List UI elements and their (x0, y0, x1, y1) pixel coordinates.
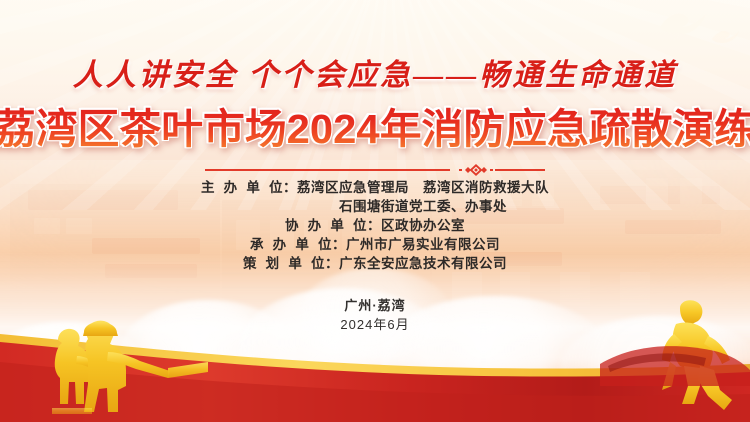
organizer-value: 石围塘街道党工委、办事处 (339, 197, 507, 216)
organizer-label: 承办单位 (250, 235, 332, 254)
divider-line-left (205, 169, 450, 171)
organizers-block: 主办单位 ： 荔湾区应急管理局 荔湾区消防救援大队 主办单位 ： 石围塘街道党工… (0, 178, 750, 273)
organizer-row: 协办单位 ： 区政协办公室 (0, 216, 750, 235)
decorative-divider (205, 164, 545, 176)
organizer-label: 策划单位 (243, 254, 325, 273)
organizer-row: 策划单位 ： 广东全安应急技术有限公司 (0, 254, 750, 273)
organizer-row: 主办单位 ： 荔湾区应急管理局 荔湾区消防救援大队 (0, 178, 750, 197)
organizer-colon: ： (332, 235, 346, 254)
organizer-value: 区政协办公室 (381, 216, 465, 235)
organizer-value: 荔湾区应急管理局 荔湾区消防救援大队 (297, 178, 549, 197)
organizer-row: 承办单位 ： 广州市广易实业有限公司 (0, 235, 750, 254)
dove-icon (654, 8, 710, 42)
place-date-block: 广州·荔湾 2024年6月 (0, 296, 750, 334)
dove-icon (710, 28, 740, 46)
diamond-ornament-icon (457, 164, 495, 176)
organizer-colon: ： (283, 178, 297, 197)
place-text: 广州·荔湾 (0, 296, 750, 315)
organizer-value: 广东全安应急技术有限公司 (339, 254, 507, 273)
poster-subtitle: 人人讲安全 个个会应急——畅通生命通道 (0, 50, 750, 94)
organizer-label: 协办单位 (285, 216, 367, 235)
organizer-label: 主办单位 (201, 178, 283, 197)
banner-accent (600, 336, 750, 386)
poster-canvas: 人人讲安全 个个会应急——畅通生命通道 荔湾区茶叶市场2024年消防应急疏散演练… (0, 0, 750, 422)
organizer-colon: ： (367, 216, 381, 235)
organizer-row: 主办单位 ： 石围塘街道党工委、办事处 (0, 197, 750, 216)
date-text: 2024年6月 (0, 315, 750, 334)
organizer-value: 广州市广易实业有限公司 (346, 235, 500, 254)
divider-line-right (495, 169, 545, 171)
page-title: 荔湾区茶叶市场2024年消防应急疏散演练 (0, 104, 750, 154)
organizer-colon: ： (325, 254, 339, 273)
